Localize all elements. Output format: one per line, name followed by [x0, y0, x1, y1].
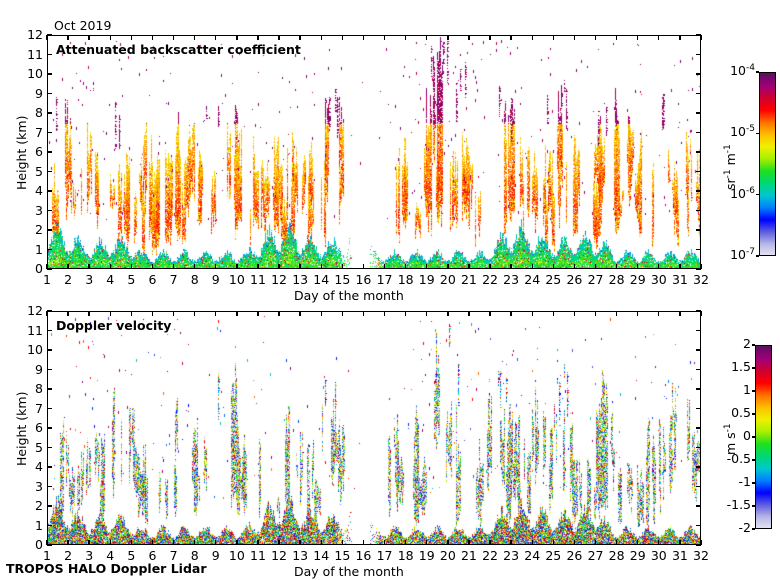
x-tick-label: 27 [585, 272, 607, 287]
x-tick [595, 311, 596, 316]
x-tick [447, 311, 448, 316]
x-tick [152, 35, 153, 40]
x-tick [384, 35, 385, 40]
x-tick-label: 3 [78, 272, 100, 287]
colorbar-tick-label: -1 [709, 474, 751, 489]
backscatter-heatmap [48, 36, 701, 269]
x-tick-label: 11 [247, 272, 269, 287]
x-tick [257, 264, 258, 269]
x-tick [489, 264, 490, 269]
x-tick [173, 264, 174, 269]
x-tick-label: 15 [331, 548, 353, 563]
colorbar-tick [752, 436, 755, 437]
colorbar-tick [752, 528, 755, 529]
x-tick [88, 311, 89, 316]
x-tick [194, 35, 195, 40]
y-tick-label: 10 [13, 66, 43, 81]
y-tick [47, 408, 52, 409]
y-tick-label: 9 [13, 86, 43, 101]
x-tick-label: 6 [141, 272, 163, 287]
x-tick-label: 7 [163, 272, 185, 287]
x-tick [679, 264, 680, 269]
doppler-heatmap [48, 312, 701, 545]
x-tick [173, 311, 174, 316]
x-tick [532, 540, 533, 545]
y-tick [696, 486, 701, 487]
y-tick [696, 349, 701, 350]
x-tick-label: 4 [99, 272, 121, 287]
y-tick [696, 525, 701, 526]
colorbar-backscatter-unit-text: sr-1 m-1 [723, 144, 738, 190]
x-tick [447, 540, 448, 545]
y-tick-label: 6 [13, 144, 43, 159]
x-tick [489, 35, 490, 40]
x-tick-label: 14 [310, 548, 332, 563]
x-tick [173, 35, 174, 40]
y-tick-label: 4 [13, 183, 43, 198]
y-tick [47, 447, 52, 448]
x-tick [194, 264, 195, 269]
x-tick [553, 311, 554, 316]
y-tick-label: 10 [13, 342, 43, 357]
x-tick [595, 540, 596, 545]
x-tick [510, 311, 511, 316]
y-tick [47, 210, 52, 211]
x-tick [679, 311, 680, 316]
y-tick [696, 249, 701, 250]
x-tick [173, 540, 174, 545]
x-tick [468, 35, 469, 40]
x-tick-label: 31 [669, 272, 691, 287]
x-tick [658, 35, 659, 40]
x-tick-label: 32 [690, 272, 712, 287]
x-axis-label-doppler: Day of the month [294, 564, 404, 579]
x-axis-label-backscatter: Day of the month [294, 288, 404, 303]
x-tick-label: 1 [36, 272, 58, 287]
x-tick [405, 35, 406, 40]
x-tick [363, 264, 364, 269]
y-tick-label: 7 [13, 401, 43, 416]
x-tick [110, 35, 111, 40]
y-tick-label: 6 [13, 420, 43, 435]
y-tick-label: 11 [13, 323, 43, 338]
x-tick [700, 540, 701, 545]
x-tick [236, 35, 237, 40]
colorbar-tick-label: 0.5 [709, 405, 751, 420]
x-tick [299, 311, 300, 316]
y-tick-label: 1 [13, 518, 43, 533]
x-tick [637, 264, 638, 269]
x-tick-label: 16 [352, 272, 374, 287]
credit-label: TROPOS HALO Doppler Lidar [6, 561, 207, 576]
x-tick-label: 14 [310, 272, 332, 287]
x-tick [426, 264, 427, 269]
x-tick-label: 9 [205, 548, 227, 563]
y-tick-label: 8 [13, 105, 43, 120]
y-tick [47, 330, 52, 331]
y-tick [47, 505, 52, 506]
y-tick [696, 388, 701, 389]
x-tick [46, 35, 47, 40]
x-tick [342, 311, 343, 316]
x-tick [468, 311, 469, 316]
y-tick [696, 229, 701, 230]
x-tick-label: 12 [268, 548, 290, 563]
y-tick-label: 4 [13, 459, 43, 474]
colorbar-tick [756, 255, 759, 256]
x-tick [700, 311, 701, 316]
x-tick [510, 264, 511, 269]
x-tick-label: 28 [606, 548, 628, 563]
x-tick [110, 264, 111, 269]
x-tick [131, 540, 132, 545]
x-tick [67, 35, 68, 40]
x-tick [342, 264, 343, 269]
x-tick [278, 311, 279, 316]
x-tick [405, 264, 406, 269]
x-tick-label: 13 [289, 548, 311, 563]
x-tick [447, 35, 448, 40]
x-tick-label: 11 [247, 548, 269, 563]
colorbar-doppler-bar[interactable] [755, 345, 772, 529]
colorbar-tick [756, 133, 759, 134]
y-tick [696, 408, 701, 409]
x-tick [110, 311, 111, 316]
y-tick [47, 93, 52, 94]
x-tick [489, 540, 490, 545]
x-tick-label: 24 [521, 548, 543, 563]
x-tick [321, 264, 322, 269]
colorbar-tick-label: -0.5 [709, 451, 751, 466]
x-tick [131, 35, 132, 40]
panel-title-doppler: Doppler velocity [56, 318, 171, 333]
x-tick-label: 20 [437, 548, 459, 563]
x-tick-label: 22 [479, 272, 501, 287]
x-tick [574, 311, 575, 316]
x-tick [384, 311, 385, 316]
panel-title-backscatter: Attenuated backscatter coefficient [56, 42, 301, 57]
x-tick [46, 264, 47, 269]
y-tick [47, 112, 52, 113]
y-tick-label: 3 [13, 479, 43, 494]
x-tick [257, 540, 258, 545]
y-tick-label: 7 [13, 125, 43, 140]
x-tick [553, 264, 554, 269]
x-tick [342, 35, 343, 40]
y-tick [696, 73, 701, 74]
colorbar-tick [752, 390, 755, 391]
colorbar-tick [752, 505, 755, 506]
x-tick-label: 17 [374, 548, 396, 563]
y-tick [47, 229, 52, 230]
y-tick-label: 2 [13, 498, 43, 513]
x-tick [637, 35, 638, 40]
x-tick-label: 12 [268, 272, 290, 287]
x-tick [426, 540, 427, 545]
x-tick [257, 311, 258, 316]
colorbar-tick-label: -2 [709, 520, 751, 535]
x-tick [131, 311, 132, 316]
colorbar-tick [752, 482, 755, 483]
y-tick [696, 369, 701, 370]
x-tick [215, 35, 216, 40]
colorbar-backscatter-bar[interactable] [759, 72, 776, 256]
x-tick-label: 19 [416, 272, 438, 287]
y-tick [696, 447, 701, 448]
x-tick [447, 264, 448, 269]
colorbar-tick [752, 344, 755, 345]
x-tick-label: 26 [563, 272, 585, 287]
colorbar-tick [752, 413, 755, 414]
y-tick [47, 486, 52, 487]
y-tick-label: 5 [13, 440, 43, 455]
x-tick [88, 264, 89, 269]
colorbar-tick-label: 1 [709, 382, 751, 397]
x-tick-label: 20 [437, 272, 459, 287]
y-tick-label: 1 [13, 242, 43, 257]
colorbar-tick [752, 459, 755, 460]
x-tick-label: 29 [627, 272, 649, 287]
y-tick-label: 2 [13, 222, 43, 237]
x-tick-label: 23 [500, 272, 522, 287]
x-tick [637, 540, 638, 545]
x-tick [637, 311, 638, 316]
x-tick [574, 35, 575, 40]
x-tick-label: 18 [395, 548, 417, 563]
plot-area-backscatter[interactable] [47, 35, 701, 269]
x-tick-label: 22 [479, 548, 501, 563]
colorbar-tick-label: -1.5 [709, 497, 751, 512]
x-tick [489, 311, 490, 316]
y-tick [696, 466, 701, 467]
x-tick [574, 540, 575, 545]
y-tick-label: 8 [13, 381, 43, 396]
colorbar-backscatter-unit: sr-1 m-1 [723, 144, 738, 190]
x-tick [152, 540, 153, 545]
x-tick [236, 540, 237, 545]
plot-area-doppler[interactable] [47, 311, 701, 545]
x-tick-label: 25 [542, 272, 564, 287]
x-tick-label: 21 [458, 272, 480, 287]
x-tick [152, 264, 153, 269]
x-tick-label: 32 [690, 548, 712, 563]
x-tick [363, 311, 364, 316]
x-tick [405, 540, 406, 545]
y-tick [47, 544, 52, 545]
y-tick [47, 427, 52, 428]
x-tick [342, 540, 343, 545]
x-tick [700, 35, 701, 40]
x-tick [532, 264, 533, 269]
colorbar-doppler-gradient [756, 346, 772, 529]
x-tick [321, 35, 322, 40]
y-tick [696, 190, 701, 191]
y-tick [47, 466, 52, 467]
x-tick [215, 311, 216, 316]
x-tick [278, 264, 279, 269]
x-tick-label: 2 [57, 272, 79, 287]
colorbar-tick [756, 194, 759, 195]
x-tick-label: 5 [120, 272, 142, 287]
y-tick-label: 11 [13, 47, 43, 62]
x-tick-label: 16 [352, 548, 374, 563]
y-tick [696, 505, 701, 506]
x-tick [616, 540, 617, 545]
colorbar-tick-label: 0 [709, 428, 751, 443]
x-tick-label: 28 [606, 272, 628, 287]
y-tick [47, 525, 52, 526]
y-tick [696, 330, 701, 331]
x-tick [88, 540, 89, 545]
x-tick [468, 540, 469, 545]
x-tick [363, 35, 364, 40]
x-tick [553, 35, 554, 40]
colorbar-tick-label: 10-5 [713, 124, 755, 139]
x-tick [194, 311, 195, 316]
x-tick-label: 29 [627, 548, 649, 563]
x-tick-label: 19 [416, 548, 438, 563]
x-tick [321, 311, 322, 316]
x-tick [616, 35, 617, 40]
x-tick [67, 540, 68, 545]
y-tick-label: 12 [13, 27, 43, 42]
y-tick [696, 210, 701, 211]
x-tick [616, 264, 617, 269]
x-tick-label: 17 [374, 272, 396, 287]
y-tick [47, 369, 52, 370]
x-tick [510, 35, 511, 40]
x-tick-label: 31 [669, 548, 691, 563]
x-tick [658, 264, 659, 269]
x-tick [405, 311, 406, 316]
y-tick [47, 190, 52, 191]
x-tick [194, 540, 195, 545]
x-tick [510, 540, 511, 545]
x-tick [278, 35, 279, 40]
x-tick [67, 311, 68, 316]
x-tick [215, 264, 216, 269]
y-tick [47, 73, 52, 74]
colorbar-backscatter-gradient [760, 73, 776, 256]
x-tick [468, 264, 469, 269]
x-tick [236, 264, 237, 269]
y-tick [47, 249, 52, 250]
x-tick [679, 540, 680, 545]
x-tick [215, 540, 216, 545]
x-tick-label: 30 [648, 272, 670, 287]
y-tick [696, 427, 701, 428]
x-tick-label: 18 [395, 272, 417, 287]
y-tick-label: 12 [13, 303, 43, 318]
y-tick [696, 54, 701, 55]
x-tick [574, 264, 575, 269]
x-tick [700, 264, 701, 269]
x-tick [384, 540, 385, 545]
x-tick-label: 10 [226, 548, 248, 563]
x-tick-label: 23 [500, 548, 522, 563]
x-tick [299, 35, 300, 40]
x-tick [131, 264, 132, 269]
x-tick [595, 35, 596, 40]
x-tick [658, 311, 659, 316]
x-tick [236, 311, 237, 316]
x-tick [46, 540, 47, 545]
x-tick [384, 264, 385, 269]
y-tick-label: 3 [13, 203, 43, 218]
x-tick-label: 8 [184, 272, 206, 287]
x-tick-label: 9 [205, 272, 227, 287]
y-tick [47, 151, 52, 152]
colorbar-tick-label: 10-6 [713, 186, 755, 201]
colorbar-tick-label: 1.5 [709, 359, 751, 374]
y-tick [47, 268, 52, 269]
x-tick-label: 26 [563, 548, 585, 563]
x-tick-label: 27 [585, 548, 607, 563]
y-tick [47, 310, 52, 311]
y-tick [47, 34, 52, 35]
x-tick [110, 540, 111, 545]
x-tick [257, 35, 258, 40]
x-tick [363, 540, 364, 545]
x-tick-label: 24 [521, 272, 543, 287]
x-tick [595, 264, 596, 269]
x-tick [46, 311, 47, 316]
x-tick [426, 311, 427, 316]
y-tick [47, 388, 52, 389]
colorbar-tick-label: 10-7 [713, 247, 755, 262]
colorbar-tick-label: 10-4 [713, 63, 755, 78]
x-tick [299, 540, 300, 545]
y-tick [696, 93, 701, 94]
y-tick-label: 5 [13, 164, 43, 179]
x-tick [426, 35, 427, 40]
y-tick [47, 54, 52, 55]
x-tick-label: 30 [648, 548, 670, 563]
colorbar-tick [752, 367, 755, 368]
x-tick [67, 264, 68, 269]
x-tick [532, 311, 533, 316]
y-tick [696, 112, 701, 113]
y-tick [696, 132, 701, 133]
x-tick [616, 311, 617, 316]
x-tick-label: 15 [331, 272, 353, 287]
x-tick [553, 540, 554, 545]
y-tick [47, 171, 52, 172]
x-tick [679, 35, 680, 40]
x-tick [88, 35, 89, 40]
x-tick-label: 21 [458, 548, 480, 563]
y-tick [696, 171, 701, 172]
month-label: Oct 2019 [54, 18, 111, 33]
x-tick [658, 540, 659, 545]
x-tick [321, 540, 322, 545]
x-tick [299, 264, 300, 269]
colorbar-tick-label: 2 [709, 336, 751, 351]
x-tick-label: 13 [289, 272, 311, 287]
x-tick [532, 35, 533, 40]
y-tick-label: 9 [13, 362, 43, 377]
y-tick [696, 151, 701, 152]
x-tick [152, 311, 153, 316]
y-tick [47, 349, 52, 350]
x-tick-label: 10 [226, 272, 248, 287]
x-tick [278, 540, 279, 545]
y-tick [47, 132, 52, 133]
x-tick-label: 25 [542, 548, 564, 563]
colorbar-tick [756, 71, 759, 72]
